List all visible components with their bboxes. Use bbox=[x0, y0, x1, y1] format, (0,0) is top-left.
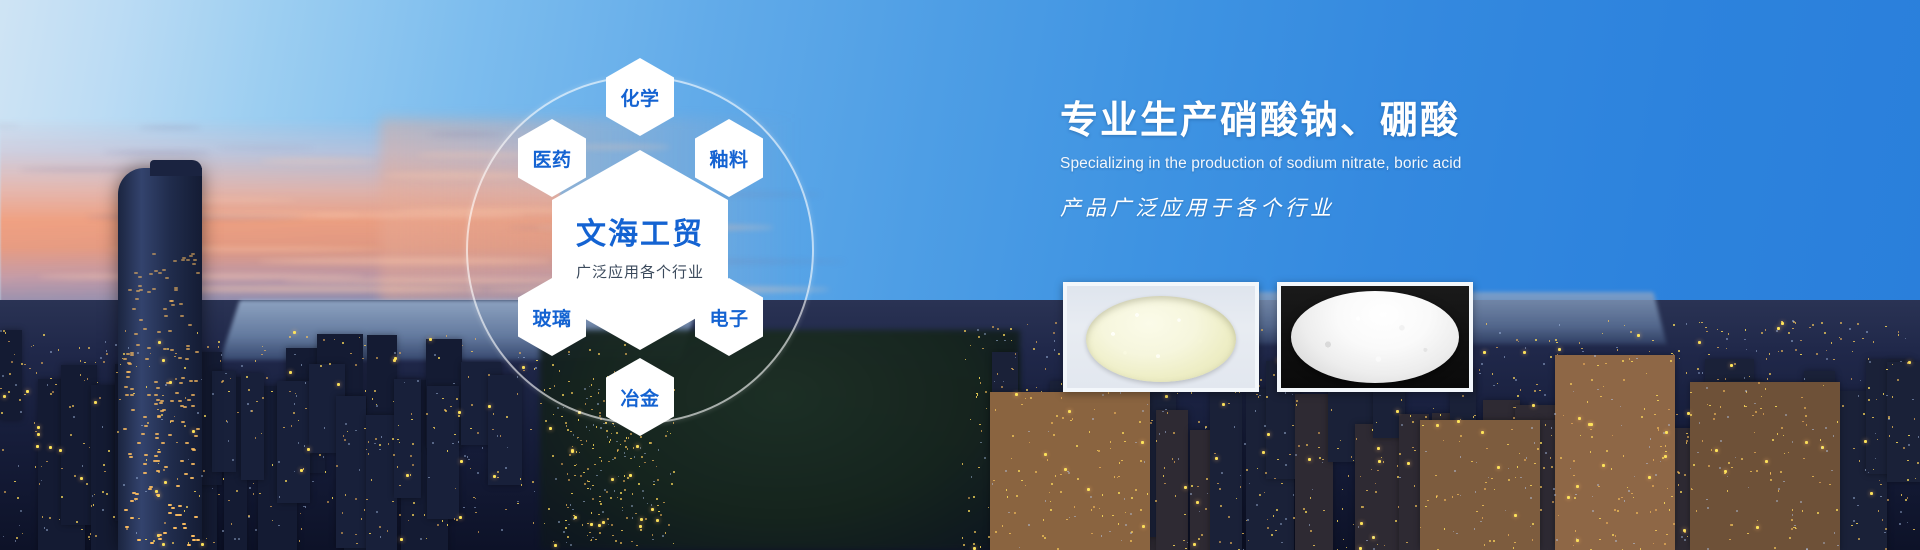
marketing-copy: 专业生产硝酸钠、硼酸 Specializing in the productio… bbox=[1060, 100, 1620, 222]
powder-grain-texture-1 bbox=[1086, 296, 1236, 382]
landmark-tower-crown bbox=[150, 160, 202, 176]
powder-grain-texture-2 bbox=[1291, 291, 1459, 383]
product-photo-sodium-nitrate bbox=[1063, 282, 1259, 392]
promo-banner: 文海工贸 广泛应用各个行业 化学 釉料 电子 冶金 玻璃 医药 专业生产硝酸钠、… bbox=[0, 0, 1920, 550]
company-name: 文海工贸 bbox=[576, 218, 704, 251]
company-tagline: 广泛应用各个行业 bbox=[576, 261, 704, 282]
product-photo-boric-acid bbox=[1277, 282, 1473, 392]
headline: 专业生产硝酸钠、硼酸 bbox=[1060, 100, 1620, 144]
product-photo-1-backdrop bbox=[1067, 286, 1255, 388]
product-photo-2-backdrop bbox=[1281, 286, 1469, 388]
boric-acid-powder-pile bbox=[1291, 291, 1459, 383]
subheadline: Specializing in the production of sodium… bbox=[1060, 155, 1620, 173]
landmark-tower bbox=[118, 168, 202, 550]
industry-hex-diagram: 文海工贸 广泛应用各个行业 化学 釉料 电子 冶金 玻璃 医药 bbox=[430, 14, 850, 534]
sodium-nitrate-powder-pile bbox=[1086, 296, 1236, 382]
tagline: 产品广泛应用于各个行业 bbox=[1060, 192, 1620, 222]
